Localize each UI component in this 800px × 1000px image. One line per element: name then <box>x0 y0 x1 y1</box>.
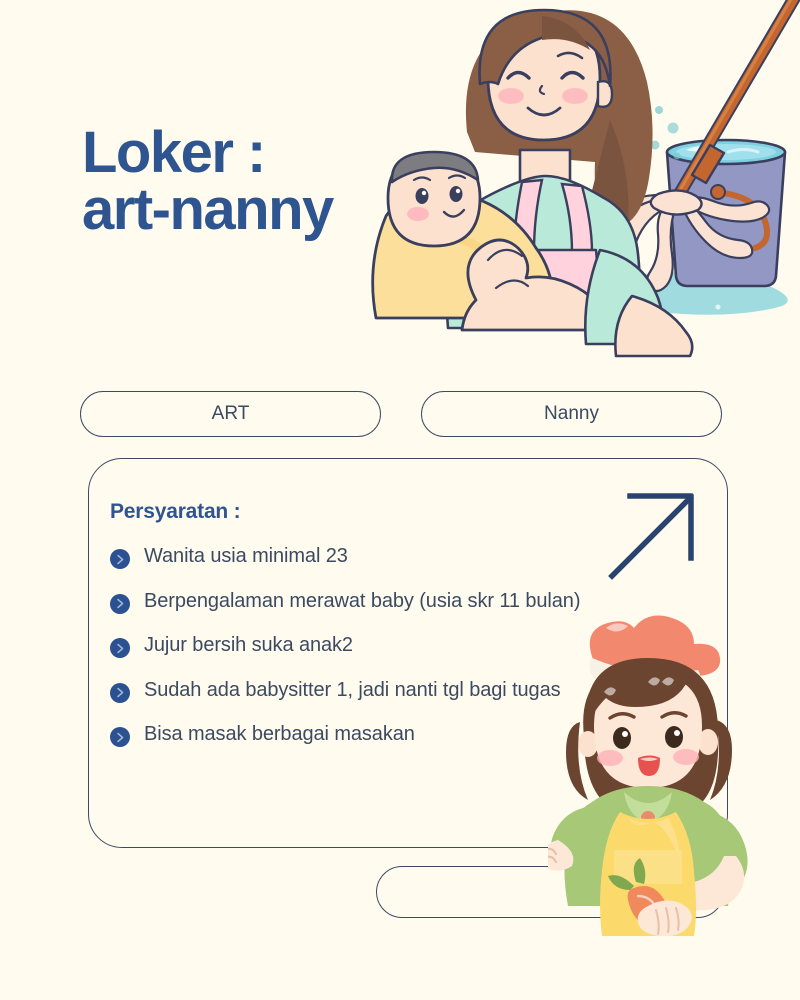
requirements-heading: Persyaratan : <box>110 500 710 524</box>
hero-illustration <box>370 0 800 370</box>
chevron-right-icon <box>110 549 130 569</box>
page-title-line-1: Loker : <box>82 124 333 181</box>
chevron-right-icon <box>110 683 130 703</box>
list-item-text: Sudah ada babysitter 1, jadi nanti tgl b… <box>144 678 561 704</box>
list-item-text: Berpengalaman merawat baby (usia skr 11 … <box>144 589 580 615</box>
list-item-text: Wanita usia minimal 23 <box>144 544 348 570</box>
poster-canvas: Loker : art-nanny ART Nanny Persyaratan … <box>0 0 800 1000</box>
page-title-line-2: art-nanny <box>82 181 333 238</box>
role-tabs: ART Nanny <box>80 391 722 437</box>
tab-nanny[interactable]: Nanny <box>421 391 722 437</box>
chevron-right-icon <box>110 594 130 614</box>
tab-art[interactable]: ART <box>80 391 381 437</box>
chevron-right-icon <box>110 638 130 658</box>
chevron-right-icon <box>110 727 130 747</box>
cook-illustration <box>548 606 798 936</box>
list-item: Wanita usia minimal 23 <box>110 544 710 570</box>
list-item-text: Bisa masak berbagai masakan <box>144 722 415 748</box>
page-title: Loker : art-nanny <box>82 124 333 239</box>
list-item-text: Jujur bersih suka anak2 <box>144 633 353 659</box>
